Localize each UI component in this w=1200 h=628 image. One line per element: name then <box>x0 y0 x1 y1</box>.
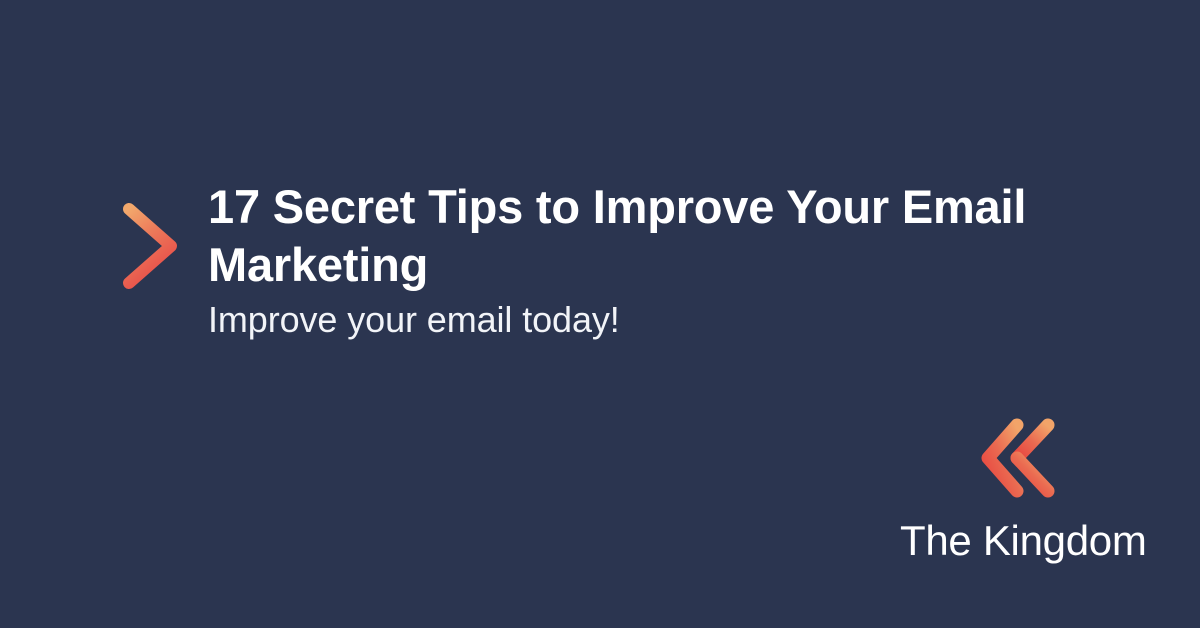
chevron-right-icon <box>110 192 190 300</box>
page-subtitle: Improve your email today! <box>208 298 1028 342</box>
headline-block: 17 Secret Tips to Improve Your Email Mar… <box>208 178 1028 342</box>
kingdom-k-logo-icon <box>970 406 1066 510</box>
blog-banner: 17 Secret Tips to Improve Your Email Mar… <box>0 0 1200 628</box>
page-title: 17 Secret Tips to Improve Your Email Mar… <box>208 178 1028 294</box>
brand-lockup: The Kingdom <box>900 400 1140 575</box>
brand-name: The Kingdom <box>900 518 1140 564</box>
